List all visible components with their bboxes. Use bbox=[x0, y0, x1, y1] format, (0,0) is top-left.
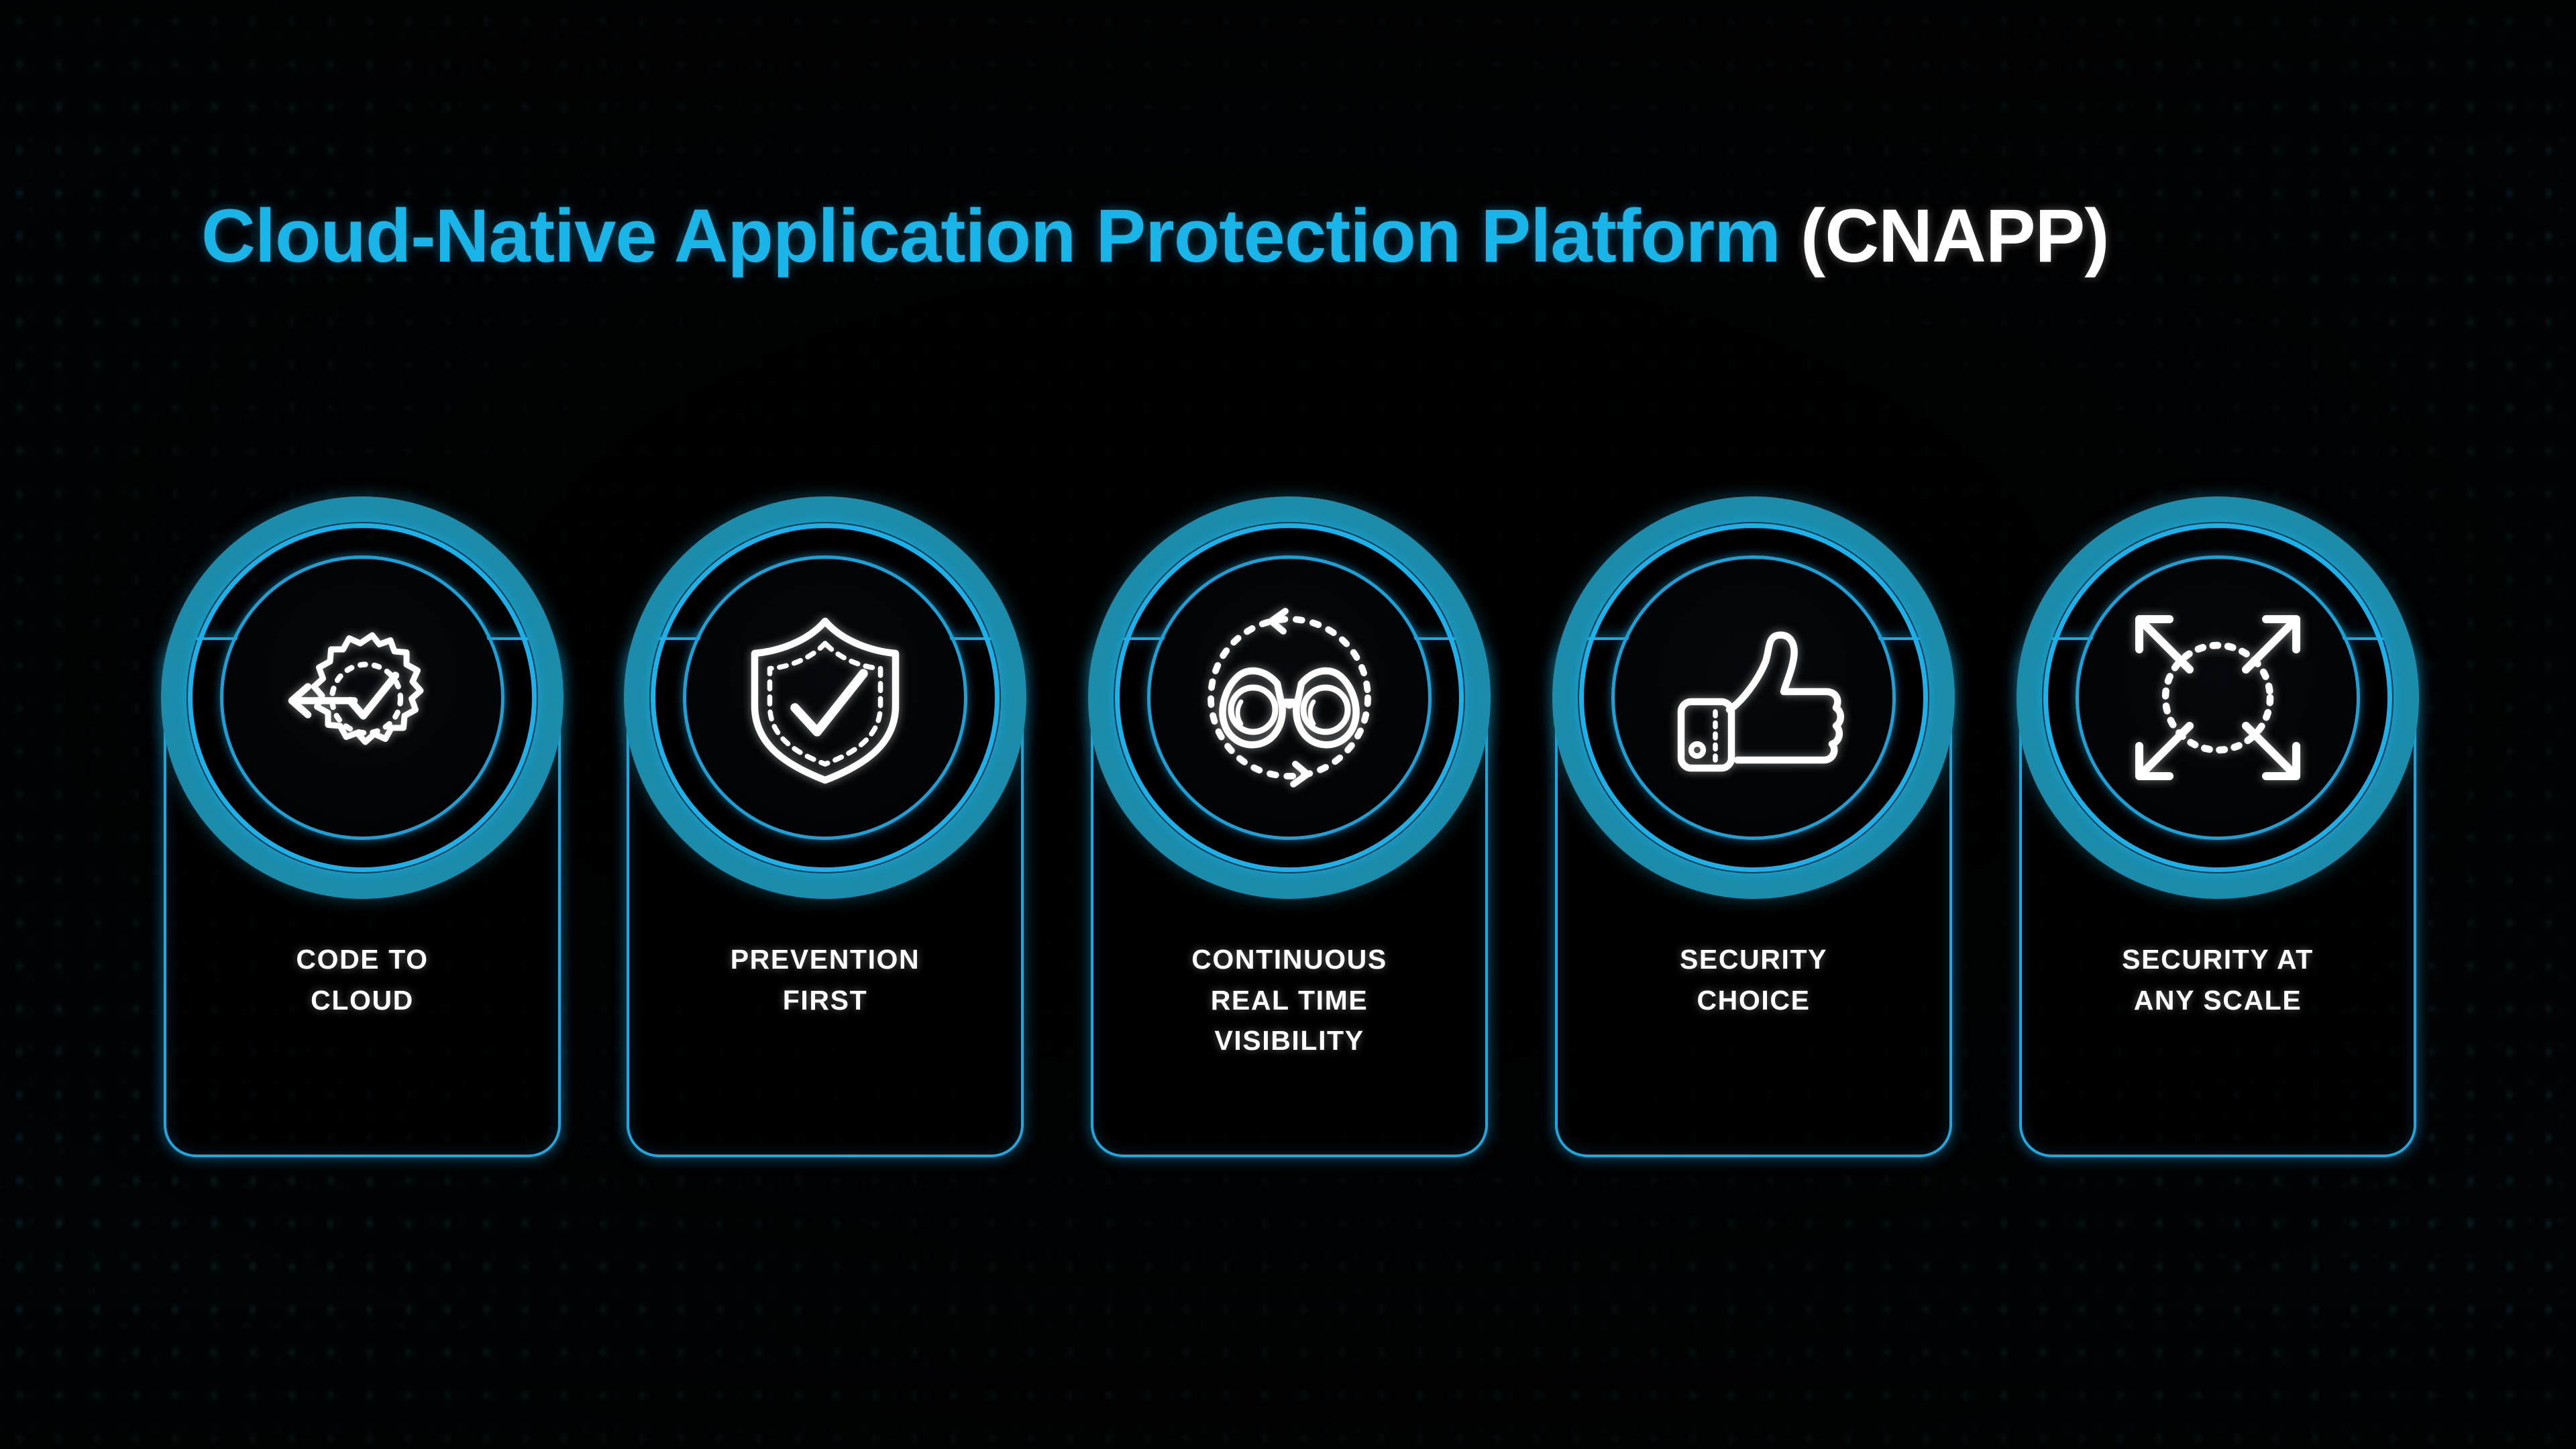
pillar-label-line: FIRST bbox=[637, 980, 1013, 1021]
pillar-code-to-cloud[interactable]: CODE TO CLOUD bbox=[161, 496, 563, 1157]
pillar-label-line: CLOUD bbox=[174, 980, 550, 1021]
pillar-emblem bbox=[2017, 496, 2419, 899]
pillar-label-line: SECURITY AT bbox=[2030, 939, 2406, 980]
pillar-label-line: VISIBILITY bbox=[1102, 1020, 1477, 1061]
pillar-label-line: REAL TIME bbox=[1102, 980, 1477, 1021]
pillar-label-line: PREVENTION bbox=[637, 939, 1013, 980]
shield-check-icon bbox=[724, 597, 926, 798]
pillar-label-line: SECURITY bbox=[1566, 939, 1941, 980]
pillar-emblem bbox=[624, 496, 1026, 899]
expand-arrows-icon bbox=[2117, 597, 2318, 798]
pillar-security-at-any-scale[interactable]: SECURITY AT ANY SCALE bbox=[2017, 496, 2419, 1157]
pillar-emblem bbox=[161, 496, 563, 899]
pillar-label: CONTINUOUS REAL TIME VISIBILITY bbox=[1102, 939, 1477, 1061]
pillar-label: PREVENTION FIRST bbox=[637, 939, 1013, 1020]
pillar-label-line: ANY SCALE bbox=[2030, 980, 2406, 1021]
pillar-label-line: CONTINUOUS bbox=[1102, 939, 1477, 980]
pillar-label-line: CODE TO bbox=[174, 939, 550, 980]
page-title-secondary: (CNAPP) bbox=[1801, 194, 2109, 278]
page-title: Cloud-Native Application Protection Plat… bbox=[201, 195, 2109, 277]
pillar-label-line: CHOICE bbox=[1566, 980, 1941, 1021]
pillar-continuous-real-time-visibility[interactable]: CONTINUOUS REAL TIME VISIBILITY bbox=[1088, 496, 1491, 1157]
gear-check-arrow-icon bbox=[262, 597, 463, 798]
page-title-primary: Cloud-Native Application Protection Plat… bbox=[201, 194, 1780, 278]
pillar-emblem bbox=[1088, 496, 1491, 899]
pillar-label: CODE TO CLOUD bbox=[174, 939, 550, 1020]
binoculars-refresh-icon bbox=[1189, 597, 1390, 798]
pillar-security-choice[interactable]: SECURITY CHOICE bbox=[1552, 496, 1955, 1157]
pillar-label: SECURITY AT ANY SCALE bbox=[2030, 939, 2406, 1020]
cnapp-slide: Cloud-Native Application Protection Plat… bbox=[0, 0, 2576, 1449]
pillar-label: SECURITY CHOICE bbox=[1566, 939, 1941, 1020]
thumbs-up-icon bbox=[1653, 597, 1854, 798]
pillar-grid: CODE TO CLOUD bbox=[161, 496, 2428, 1167]
pillar-emblem bbox=[1552, 496, 1955, 899]
pillar-prevention-first[interactable]: PREVENTION FIRST bbox=[624, 496, 1026, 1157]
